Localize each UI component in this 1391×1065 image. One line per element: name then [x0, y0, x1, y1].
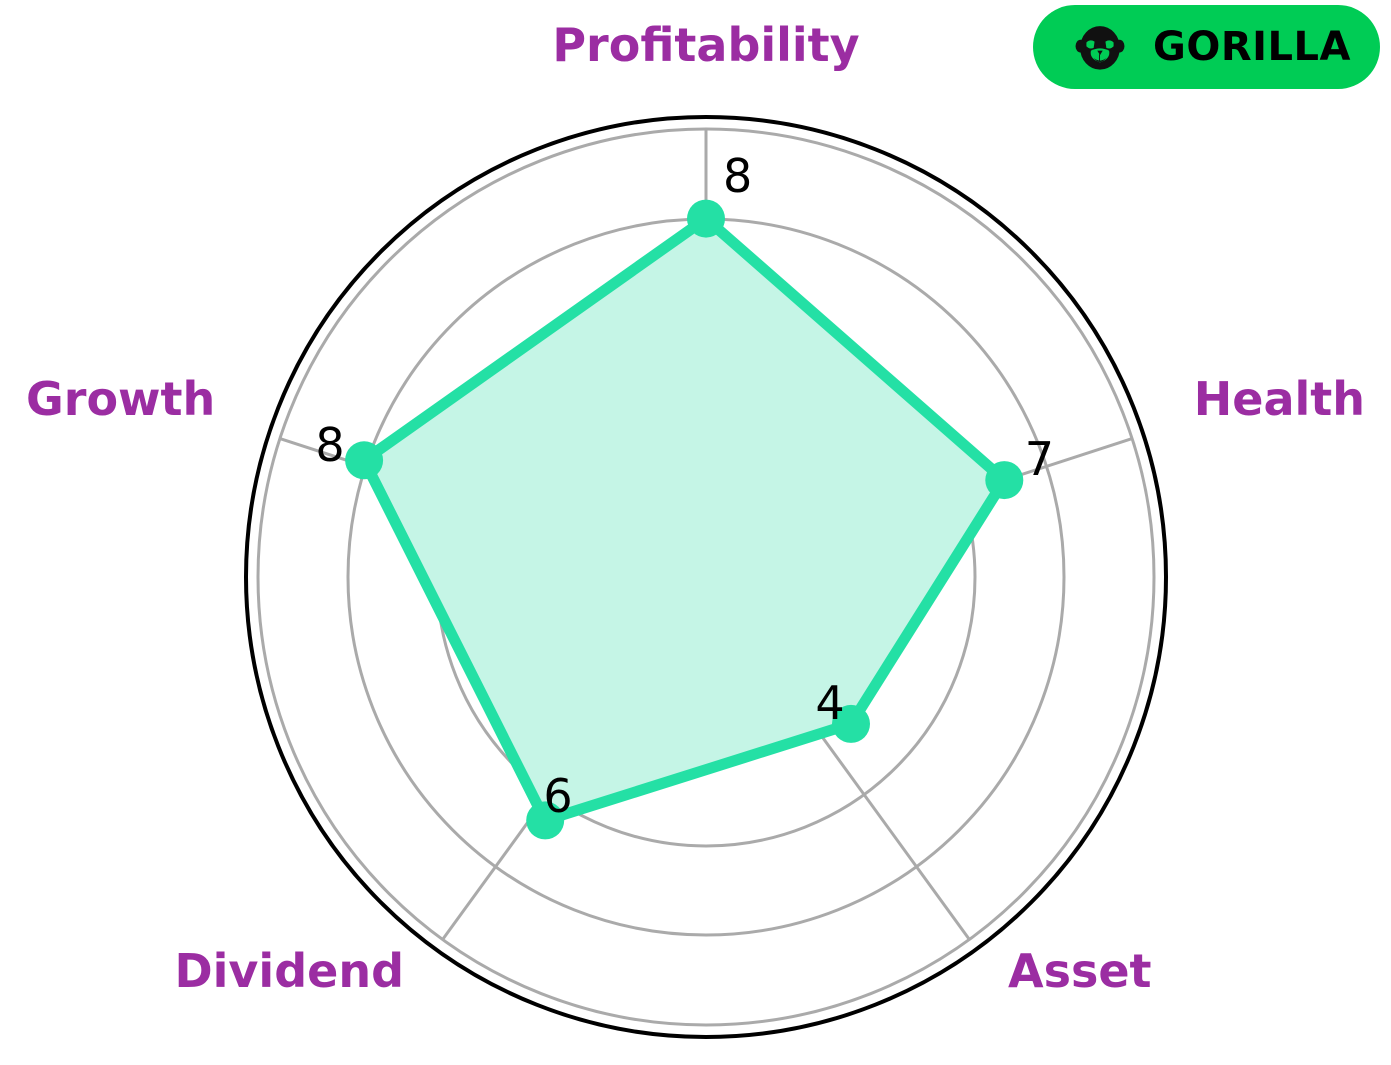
value-label-profitability: 8 — [723, 149, 752, 203]
chart-canvas: 8 7 4 6 8 Profitability Health Asset Div… — [0, 0, 1391, 1065]
axis-label-profitability: Profitability — [552, 18, 859, 72]
data-point-growth[interactable] — [345, 441, 383, 479]
value-label-dividend: 6 — [543, 769, 572, 823]
axis-label-growth: Growth — [26, 372, 215, 426]
brand-name-label: GORILLA — [1153, 27, 1351, 67]
value-label-growth: 8 — [315, 418, 344, 472]
data-point-health[interactable] — [985, 461, 1023, 499]
gorilla-face-icon — [1071, 18, 1129, 76]
axis-label-asset: Asset — [1008, 944, 1152, 998]
radar-series-polygon — [364, 219, 1004, 821]
axis-label-health: Health — [1194, 372, 1365, 426]
radar-chart: 8 7 4 6 8 Profitability Health Asset Div… — [0, 0, 1391, 1065]
data-point-profitability[interactable] — [687, 200, 725, 238]
value-label-asset: 4 — [815, 676, 844, 730]
value-label-health: 7 — [1025, 432, 1054, 486]
axis-label-dividend: Dividend — [174, 944, 404, 998]
brand-badge[interactable]: GORILLA — [1033, 5, 1380, 89]
